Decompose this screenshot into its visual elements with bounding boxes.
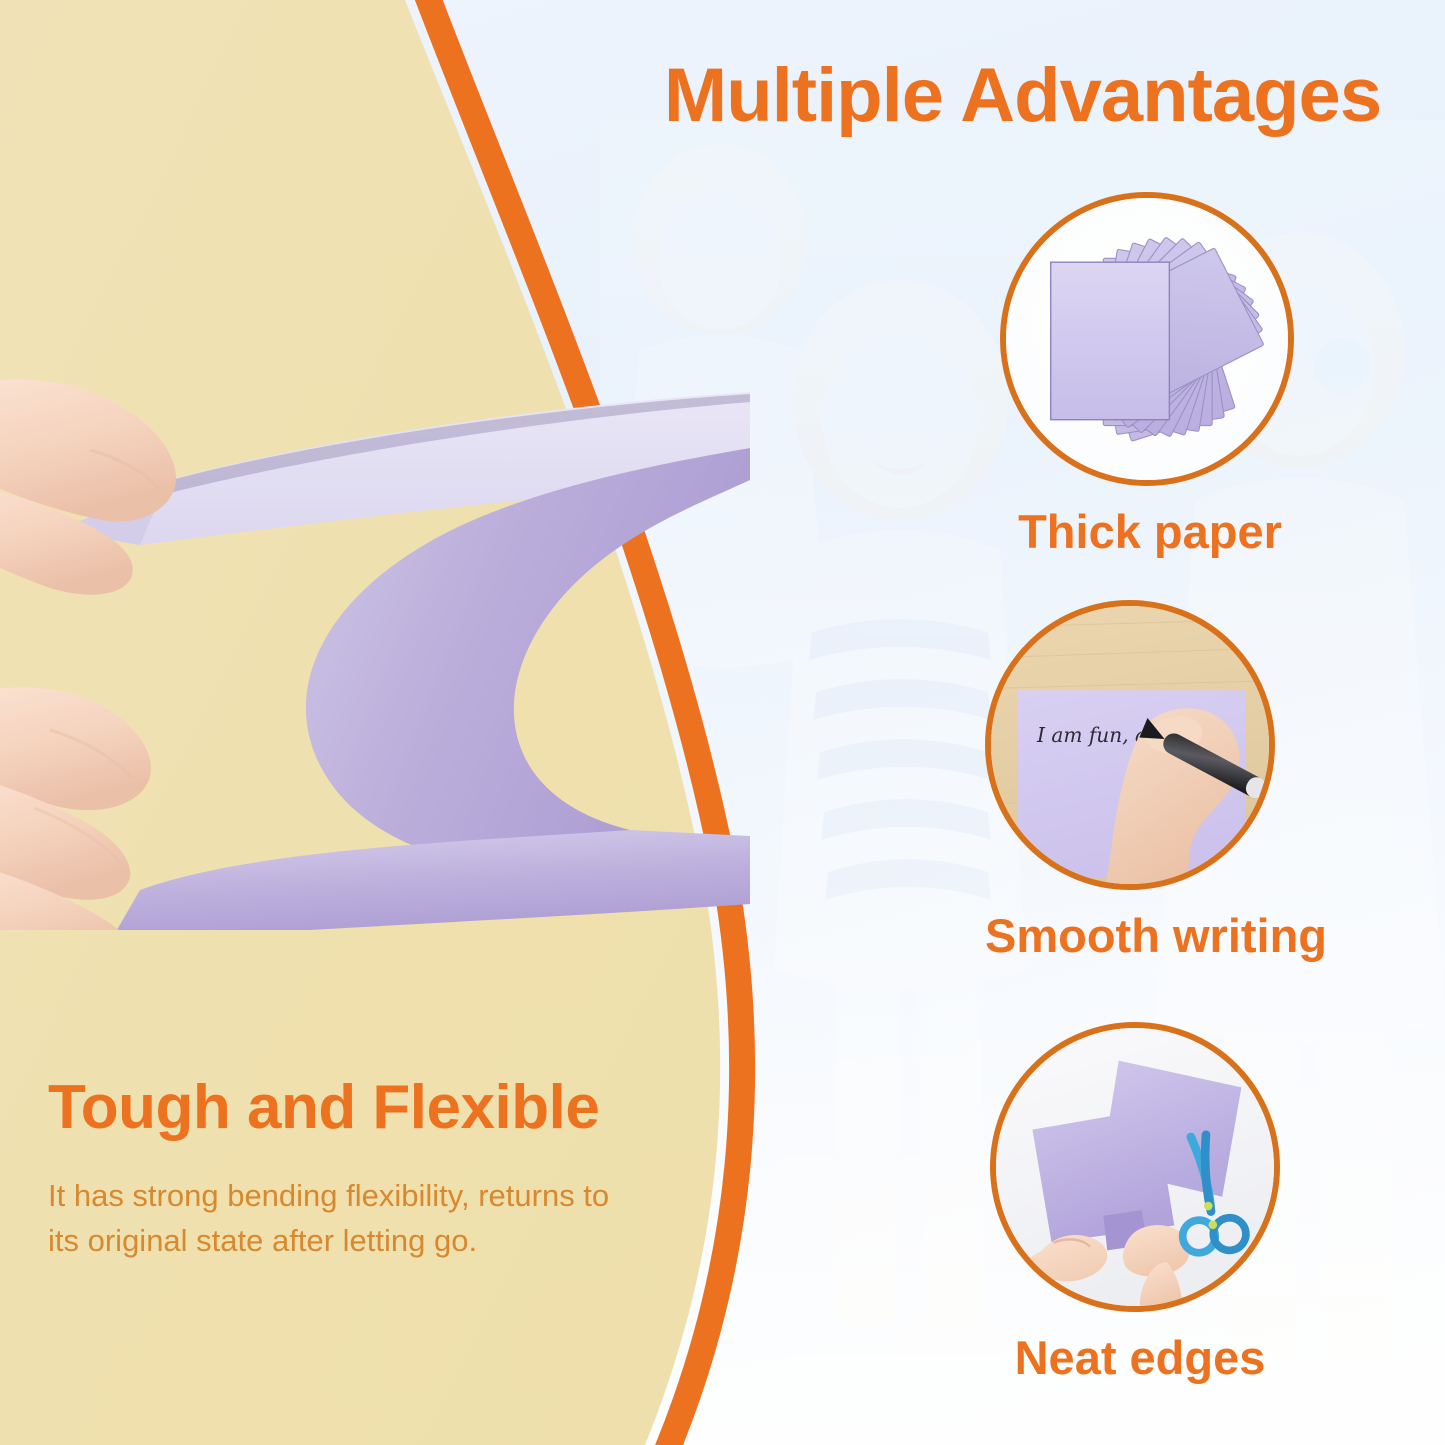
- page-title: Multiple Advantages: [600, 52, 1445, 139]
- feature-neat-edges: Neat edges: [990, 1022, 1290, 1385]
- feature-thick-paper: Thick paper: [1000, 192, 1300, 559]
- left-body-text: It has strong bending flexibility, retur…: [48, 1174, 748, 1264]
- left-body-line-1: It has strong bending flexibility, retur…: [48, 1174, 748, 1219]
- feature-thick-paper-label: Thick paper: [1000, 504, 1300, 559]
- left-text-block: Tough and Flexible It has strong bending…: [48, 1075, 748, 1264]
- feature-thick-paper-image: [1000, 192, 1294, 486]
- feature-smooth-writing-image: I am fun, and: [985, 600, 1275, 890]
- left-headline: Tough and Flexible: [48, 1075, 748, 1140]
- hero-bending-paper-photo: [0, 330, 750, 930]
- product-feature-graphic: Multiple Advantages Tough and Flexible I…: [0, 0, 1445, 1445]
- left-body-line-2: its original state after letting go.: [48, 1219, 748, 1264]
- feature-neat-edges-image: [990, 1022, 1280, 1312]
- feature-smooth-writing: I am fun, and Smooth writing: [985, 600, 1285, 963]
- feature-smooth-writing-label: Smooth writing: [985, 908, 1285, 963]
- feature-neat-edges-label: Neat edges: [990, 1330, 1290, 1385]
